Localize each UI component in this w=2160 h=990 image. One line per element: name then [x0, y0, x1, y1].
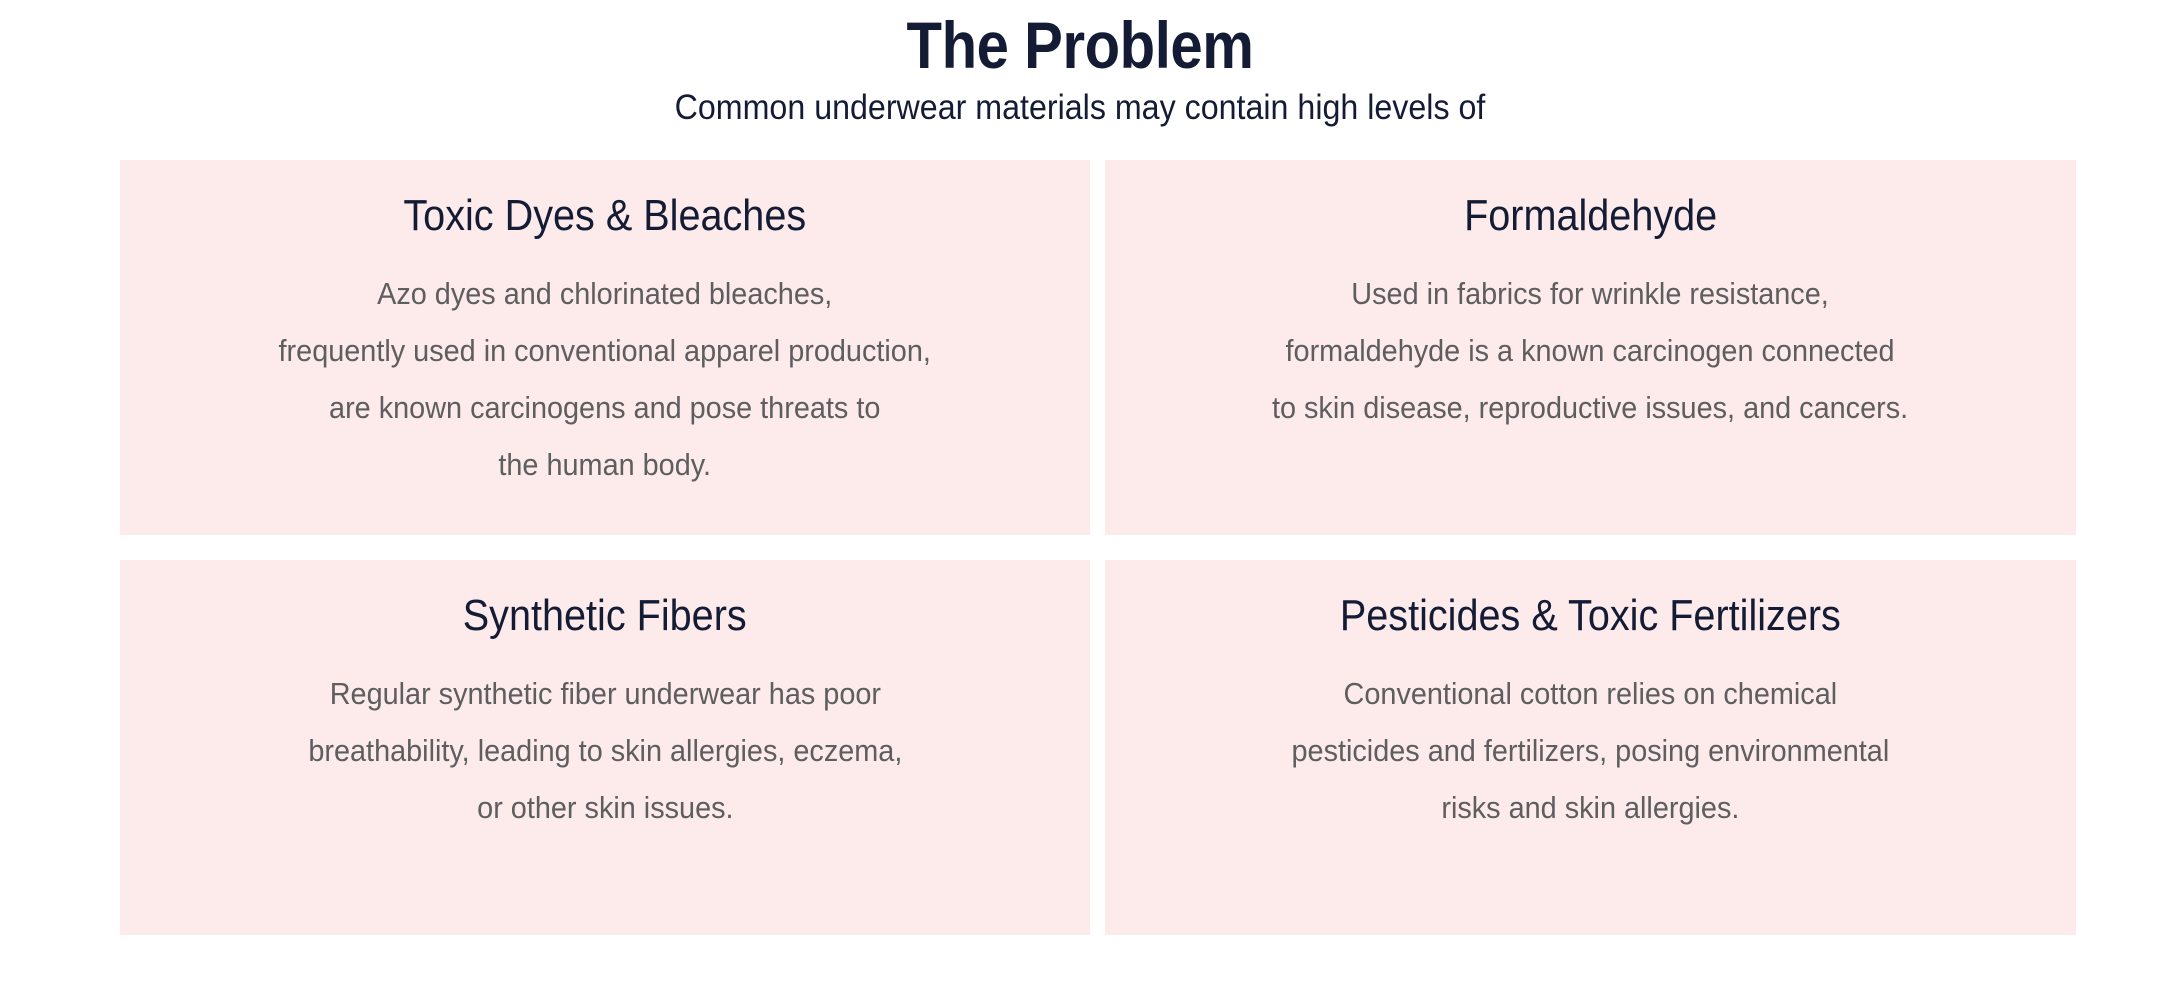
card-body-line: Used in fabrics for wrinkle resistance, — [1272, 265, 1908, 322]
card-title: Toxic Dyes & Bleaches — [404, 160, 807, 243]
card-title: Formaldehyde — [1464, 160, 1717, 243]
page-title: The Problem — [130, 0, 2031, 81]
card-title: Synthetic Fibers — [463, 560, 747, 643]
card-body-line: to skin disease, reproductive issues, an… — [1272, 379, 1908, 436]
header: The Problem Common underwear materials m… — [0, 0, 2160, 129]
card-body-line: frequently used in conventional apparel … — [279, 322, 931, 379]
card-body: Conventional cotton relies on chemicalpe… — [1292, 643, 1890, 836]
problem-card-formaldehyde: Formaldehyde Used in fabrics for wrinkle… — [1105, 160, 2076, 535]
card-body-line: risks and skin allergies. — [1292, 779, 1890, 836]
problem-card-synthetic-fibers: Synthetic Fibers Regular synthetic fiber… — [120, 560, 1090, 935]
problem-card-grid: Toxic Dyes & Bleaches Azo dyes and chlor… — [120, 160, 2076, 935]
card-body-line: Conventional cotton relies on chemical — [1292, 665, 1890, 722]
card-body-line: pesticides and fertilizers, posing envir… — [1292, 722, 1890, 779]
problem-card-pesticides: Pesticides & Toxic Fertilizers Conventio… — [1105, 560, 2076, 935]
card-body-line: Azo dyes and chlorinated bleaches, — [279, 265, 931, 322]
card-body-line: are known carcinogens and pose threats t… — [279, 379, 931, 436]
problem-card-toxic-dyes: Toxic Dyes & Bleaches Azo dyes and chlor… — [120, 160, 1090, 535]
card-body-line: breathability, leading to skin allergies… — [308, 722, 902, 779]
card-body-line: or other skin issues. — [308, 779, 902, 836]
problem-infographic: The Problem Common underwear materials m… — [0, 0, 2160, 990]
card-body: Azo dyes and chlorinated bleaches,freque… — [279, 243, 931, 493]
card-body: Used in fabrics for wrinkle resistance,f… — [1272, 243, 1908, 436]
card-body-line: Regular synthetic fiber underwear has po… — [308, 665, 902, 722]
card-body: Regular synthetic fiber underwear has po… — [308, 643, 902, 836]
card-body-line: the human body. — [279, 436, 931, 493]
page-subtitle: Common underwear materials may contain h… — [86, 81, 2073, 128]
card-title: Pesticides & Toxic Fertilizers — [1340, 560, 1841, 643]
card-body-line: formaldehyde is a known carcinogen conne… — [1272, 322, 1908, 379]
